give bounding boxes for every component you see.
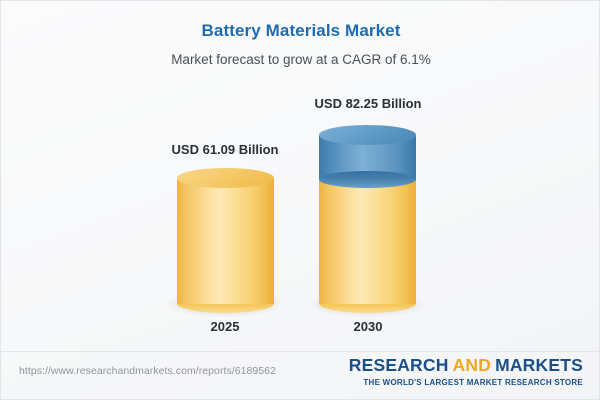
logo-tagline: THE WORLD'S LARGEST MARKET RESEARCH STOR…: [349, 378, 583, 387]
bar-body-2025: [177, 178, 274, 304]
value-label-2030: USD 82.25 Billion: [268, 96, 468, 111]
bar-segment-seam-2030: [319, 171, 416, 188]
category-label-2030: 2030: [268, 319, 468, 334]
logo-word-research: RESEARCH: [349, 355, 449, 375]
chart-card: Battery Materials Market Market forecast…: [0, 0, 600, 400]
chart-plot-area: USD 61.09 Billion 2025 USD 82.25 Billion…: [1, 1, 600, 349]
footer-divider: [1, 351, 600, 352]
bar-top-cap-2030: [319, 125, 416, 145]
report-url[interactable]: https://www.researchandmarkets.com/repor…: [19, 365, 276, 377]
value-label-2025: USD 61.09 Billion: [125, 142, 325, 157]
bar-top-cap-2025: [177, 168, 274, 188]
logo-wordmark: RESEARCHANDMARKETS: [349, 357, 583, 375]
logo-word-and: AND: [453, 355, 492, 375]
research-and-markets-logo[interactable]: RESEARCHANDMARKETS THE WORLD'S LARGEST M…: [349, 357, 583, 387]
bar-body-base-2030: [319, 178, 416, 304]
logo-word-markets: MARKETS: [495, 355, 583, 375]
